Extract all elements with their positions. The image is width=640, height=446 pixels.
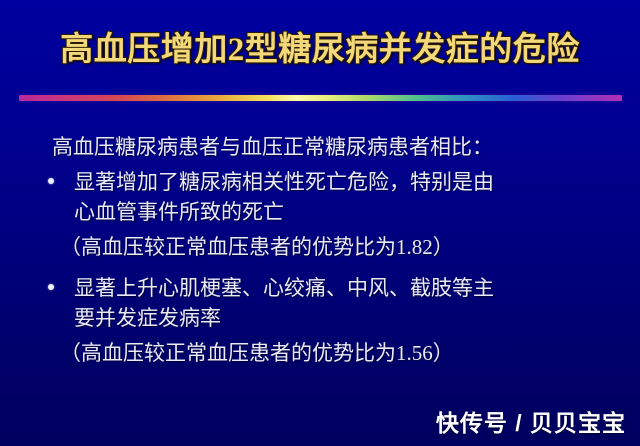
presentation-slide: 高血压增加2型糖尿病并发症的危险 高血压糖尿病患者与血压正常糖尿病患者相比： 显… xyxy=(0,0,640,446)
title-zone: 高血压增加2型糖尿病并发症的危险 xyxy=(0,28,640,72)
watermark: 快传号 / 贝贝宝宝 xyxy=(436,408,626,438)
gradient-divider xyxy=(19,95,622,101)
bullet-line-primary: 显著上升心肌梗塞、心绞痛、中风、截肢等主 xyxy=(74,273,640,303)
slide-body: 高血压糖尿病患者与血压正常糖尿病患者相比： 显著增加了糖尿病相关性死亡危险，特别… xyxy=(0,132,640,373)
bullet-item: 显著上升心肌梗塞、心绞痛、中风、截肢等主 要并发症发病率 xyxy=(45,273,640,333)
bullet-note: （高血压较正常血压患者的优势比为1.56） xyxy=(60,338,640,368)
intro-text: 高血压糖尿病患者与血压正常糖尿病患者相比： xyxy=(52,132,640,162)
bullet-line-secondary: 要并发症发病率 xyxy=(74,303,640,333)
slide-title: 高血压增加2型糖尿病并发症的危险 xyxy=(60,28,580,72)
bullet-dot-icon xyxy=(48,178,54,184)
bullet-item: 显著增加了糖尿病相关性死亡危险，特别是由 心血管事件所致的死亡 xyxy=(45,167,640,227)
bullet-dot-icon xyxy=(48,284,54,290)
bullet-line-primary: 显著增加了糖尿病相关性死亡危险，特别是由 xyxy=(74,167,640,197)
bullet-line-secondary: 心血管事件所致的死亡 xyxy=(74,197,640,227)
bullet-note: （高血压较正常血压患者的优势比为1.82） xyxy=(60,232,640,262)
